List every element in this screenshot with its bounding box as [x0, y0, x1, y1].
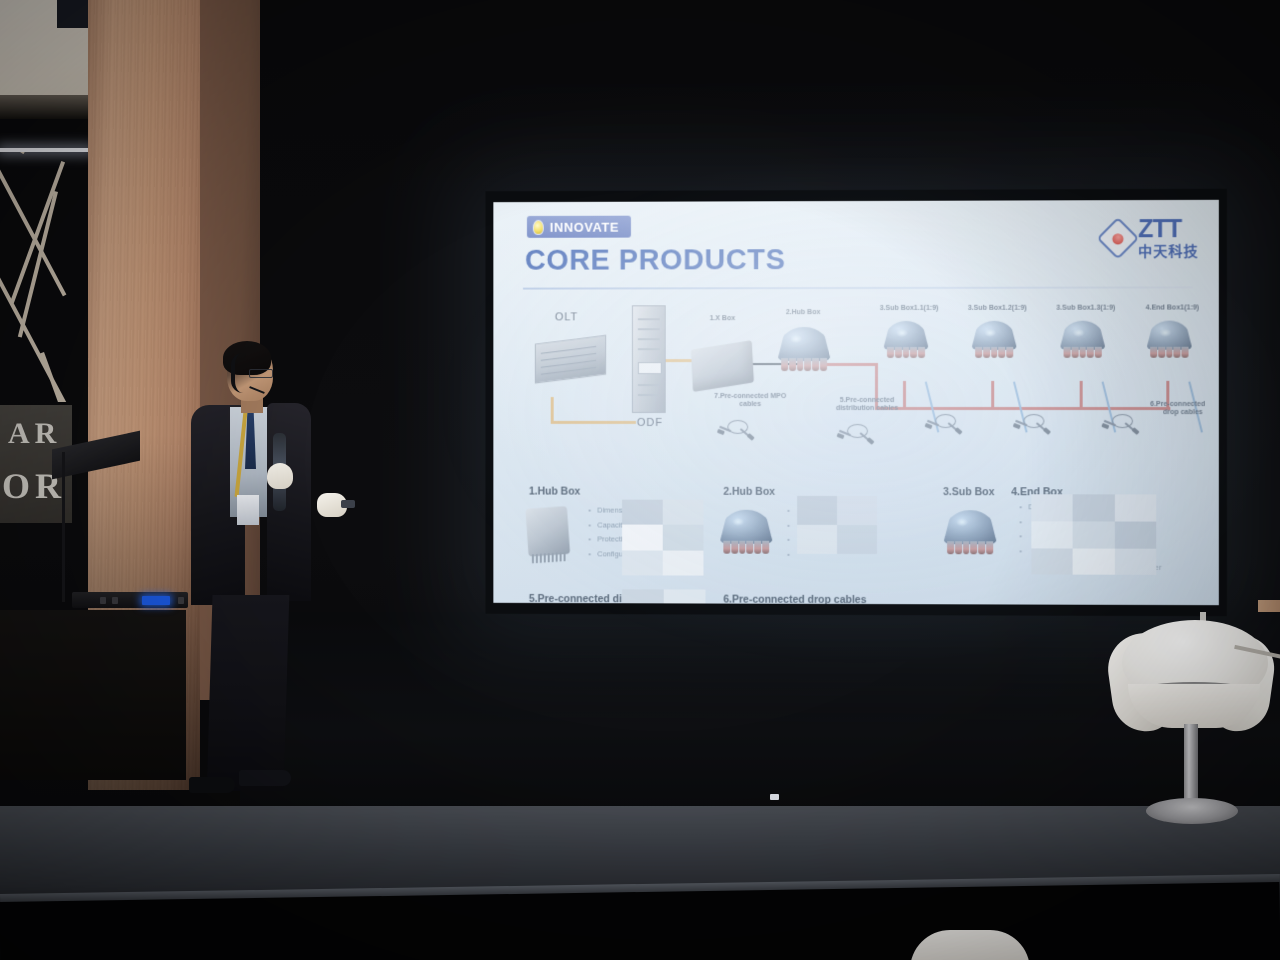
topo-label-olt: OLT	[537, 311, 596, 324]
mixer-led-display	[142, 596, 170, 605]
card-title-hub-box-1: 1.Hub Box	[529, 486, 580, 498]
card-2-bullet-3	[787, 533, 798, 548]
mixer-knob[interactable]	[100, 597, 106, 604]
stage-floor-marker	[770, 794, 779, 800]
topo-cable-mpo-line1: 7.Pre-connected MPO	[714, 393, 786, 400]
hub-box-icon	[777, 327, 831, 371]
mixer-knob[interactable]	[112, 597, 118, 604]
presenter	[183, 345, 363, 815]
topo-label-hubbox: 2.Hub Box	[763, 309, 843, 317]
card-title-mpo-cables: 7.Pre-connected MPO cables	[943, 604, 1088, 605]
distribution-cable-coil-icon	[839, 423, 873, 443]
card-4-plc-splitter-text: PLC splitter	[1120, 563, 1162, 572]
odf-cabinet-icon	[632, 305, 666, 413]
card-1-bullet-protection: Protection: IP68	[588, 533, 692, 548]
x-box-icon	[691, 340, 754, 392]
topo-label-xbox: 1.X Box	[680, 315, 766, 323]
redaction-mosaic-card-2	[797, 496, 877, 554]
sub-box-3-thumbnail	[943, 510, 997, 554]
card-1-bullet-dimension: Dimension: 330*270*130mm	[588, 504, 692, 519]
card-2-bullets	[787, 504, 798, 562]
audio-mixer[interactable]	[72, 592, 188, 608]
olt-chassis-icon	[535, 335, 606, 384]
slide-title-divider	[523, 286, 1193, 289]
av-control-desk	[0, 610, 186, 780]
end-box-icon	[1146, 321, 1192, 359]
topo-cable-label-distribution: 5.Pre-connected distribution cables	[811, 397, 923, 413]
ztt-logo-cn: 中天科技	[1138, 244, 1199, 258]
ztt-logo: ZTT 中天科技	[1103, 217, 1199, 258]
card-2-bullet-2	[787, 519, 798, 534]
mpo-cable-coil-icon	[719, 419, 753, 439]
topo-label-subbox-2: 3.Sub Box1.2(1:9)	[957, 305, 1037, 313]
hub-box-2-thumbnail	[719, 510, 773, 554]
decorative-lattice	[0, 152, 90, 402]
network-topology-diagram: OLT ODF 1.X Box 2.Hub Box	[493, 296, 1218, 487]
card-title-drop-cables: 6.Pre-connected drop cables	[723, 594, 866, 606]
card-1-bullet-capacity: Capacity:	[588, 518, 692, 533]
fiber-link-hub-trunk	[825, 363, 877, 366]
topo-label-odf: ODF	[620, 417, 680, 430]
card-2-bullet-4	[787, 548, 798, 563]
topo-label-subbox-1: 3.Sub Box1.1(1:9)	[869, 305, 949, 313]
fiber-riser-sub2	[991, 381, 994, 409]
drop-cable-coil-icon-2	[1015, 413, 1049, 433]
card-2-bullet-1	[787, 504, 798, 519]
card-4-bullet-4	[1019, 544, 1041, 559]
white-tulip-chair[interactable]	[1104, 612, 1276, 842]
lightbulb-icon	[533, 219, 544, 234]
sub-box-icon-3	[1060, 321, 1106, 359]
sub-box-icon-2	[971, 321, 1017, 359]
drop-cable-coil-icon-1	[927, 413, 961, 433]
card-4-bullet-2	[1019, 515, 1041, 530]
topo-label-subbox-3: 3.Sub Box1.3(1:9)	[1045, 305, 1126, 313]
card-title-hub-box-2: 2.Hub Box	[723, 486, 775, 498]
presentation-clicker[interactable]	[341, 500, 355, 508]
topo-cable-dist-line1: 5.Pre-connected	[840, 397, 894, 404]
speaker-stand	[62, 452, 65, 602]
lattice-stroke	[20, 152, 90, 154]
ztt-logo-en: ZTT	[1138, 217, 1199, 242]
card-1-bullets: Dimension: 330*270*130mm Capacity: Prote…	[588, 504, 692, 563]
ztt-diamond-icon	[1097, 217, 1140, 260]
slide-badge-label: INNOVATE	[550, 219, 619, 234]
topo-cable-dist-line2: distribution cables	[836, 405, 898, 412]
chair-stem	[1184, 724, 1198, 802]
sub-box-icon-1	[883, 321, 929, 359]
presenter-shoe-left	[189, 777, 235, 793]
ceiling-shadow	[0, 95, 92, 119]
product-cards: 1.Hub Box Dimension: 330*270*130mm Capac…	[493, 486, 1218, 606]
topo-cable-drop-line1: 6.Pre-connected	[1150, 401, 1205, 409]
topo-cable-label-mpo: 7.Pre-connected MPO cables	[696, 393, 806, 409]
card-1-bullet-configuration: Configuration: MPO pigtails	[588, 547, 692, 562]
hub-box-1-thumbnail	[525, 506, 570, 556]
card-title-distribution-cables: 5.Pre-connected distribution cables	[529, 593, 705, 605]
card-4-bullets: Dim	[1019, 500, 1041, 559]
presenter-hand-left	[267, 463, 293, 489]
card-4-bullet-dimension: Dim	[1019, 500, 1041, 515]
card-title-end-box-4: 4.End Box	[1011, 486, 1063, 498]
topo-cable-label-drop: 6.Pre-connected drop cables	[1086, 401, 1203, 417]
fiber-riser-sub3	[1080, 381, 1083, 409]
card-title-sub-box-3: 3.Sub Box	[943, 486, 994, 498]
topo-cable-mpo-line2: cables	[739, 401, 761, 408]
presenter-legs	[201, 595, 297, 791]
fiber-link-olt-down	[551, 397, 554, 423]
signage-text-row1: AR	[8, 417, 61, 451]
card-4-bullet-3	[1019, 530, 1041, 545]
slide-title: CORE PRODUCTS	[525, 244, 786, 277]
topo-label-endbox: 4.End Box1(1:9)	[1132, 304, 1213, 312]
slide-section-badge: INNOVATE	[527, 216, 631, 238]
presentation-scene: AR OR INNOVATE CORE PRODUCTS ZTT 中天科技	[0, 0, 1280, 960]
slide-surface: INNOVATE CORE PRODUCTS ZTT 中天科技	[493, 200, 1218, 605]
topo-cable-drop-line2: drop cables	[1163, 409, 1203, 417]
chair-base	[1146, 798, 1238, 824]
presenter-badge	[237, 495, 259, 525]
presenter-shoe-right	[239, 770, 291, 786]
projection-screen: INNOVATE CORE PRODUCTS ZTT 中天科技	[485, 189, 1226, 617]
